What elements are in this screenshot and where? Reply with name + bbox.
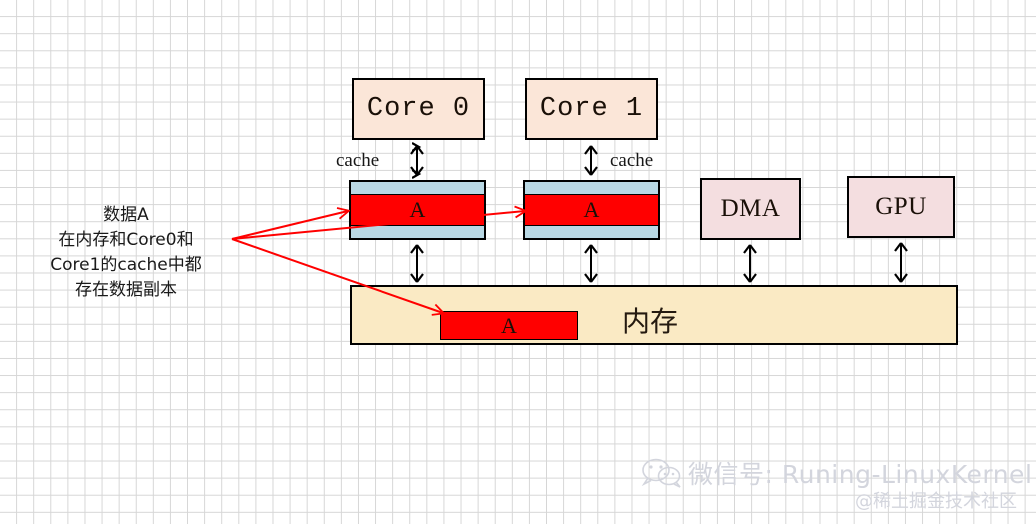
dma-label: DMA bbox=[721, 195, 781, 223]
arrow-cache0-memory bbox=[411, 245, 423, 282]
core-0-cache-block: A bbox=[349, 180, 486, 240]
dma-box: DMA bbox=[700, 178, 801, 240]
arrow-cache1-memory bbox=[585, 245, 597, 282]
watermark-sub-text: @稀土掘金技术社区 bbox=[855, 487, 1017, 513]
core-0-cache-band-top bbox=[351, 182, 484, 194]
core-1-cache-band-bottom bbox=[525, 226, 658, 238]
core-1-cache-label: cache bbox=[610, 150, 653, 172]
annotation-line-2: 在内存和Core0和 bbox=[30, 228, 222, 253]
annotation-line-1: 数据A bbox=[30, 203, 222, 228]
gpu-label: GPU bbox=[875, 193, 927, 221]
watermark-main-text: 微信号: Runing-LinuxKernel bbox=[688, 460, 1032, 489]
watermark: 微信号: Runing-LinuxKernel bbox=[640, 455, 1032, 491]
annotation-line-4: 存在数据副本 bbox=[30, 278, 222, 303]
wechat-icon bbox=[640, 457, 684, 489]
core-1-cache-data-a: A bbox=[525, 194, 658, 226]
memory-label: 内存 bbox=[622, 300, 678, 340]
arrow-gpu-memory bbox=[895, 243, 907, 282]
annotation-text: 数据A 在内存和Core0和 Core1的cache中都 存在数据副本 bbox=[30, 203, 222, 303]
arrow-to-cache0 bbox=[232, 211, 348, 239]
core-0-cache-label: cache bbox=[336, 150, 379, 172]
annotation-line-3: Core1的cache中都 bbox=[30, 253, 222, 278]
core-0-box: Core 0 bbox=[352, 78, 485, 140]
core-0-label: Core 0 bbox=[367, 94, 470, 124]
arrow-core1-cache1 bbox=[585, 146, 597, 175]
core-1-cache-block: A bbox=[523, 180, 660, 240]
arrow-core0-cache0 bbox=[411, 146, 423, 175]
core-1-box: Core 1 bbox=[525, 78, 658, 140]
diagram-canvas: Core 0 Core 1 cache cache A A DMA GPU A … bbox=[0, 0, 1036, 524]
gpu-box: GPU bbox=[847, 176, 955, 238]
core-1-label: Core 1 bbox=[540, 94, 643, 124]
core-0-cache-band-bottom bbox=[351, 226, 484, 238]
memory-data-a: A bbox=[440, 311, 578, 340]
core-0-cache-data-a: A bbox=[351, 194, 484, 226]
arrow-dma-memory bbox=[744, 245, 756, 282]
core-1-cache-band-top bbox=[525, 182, 658, 194]
